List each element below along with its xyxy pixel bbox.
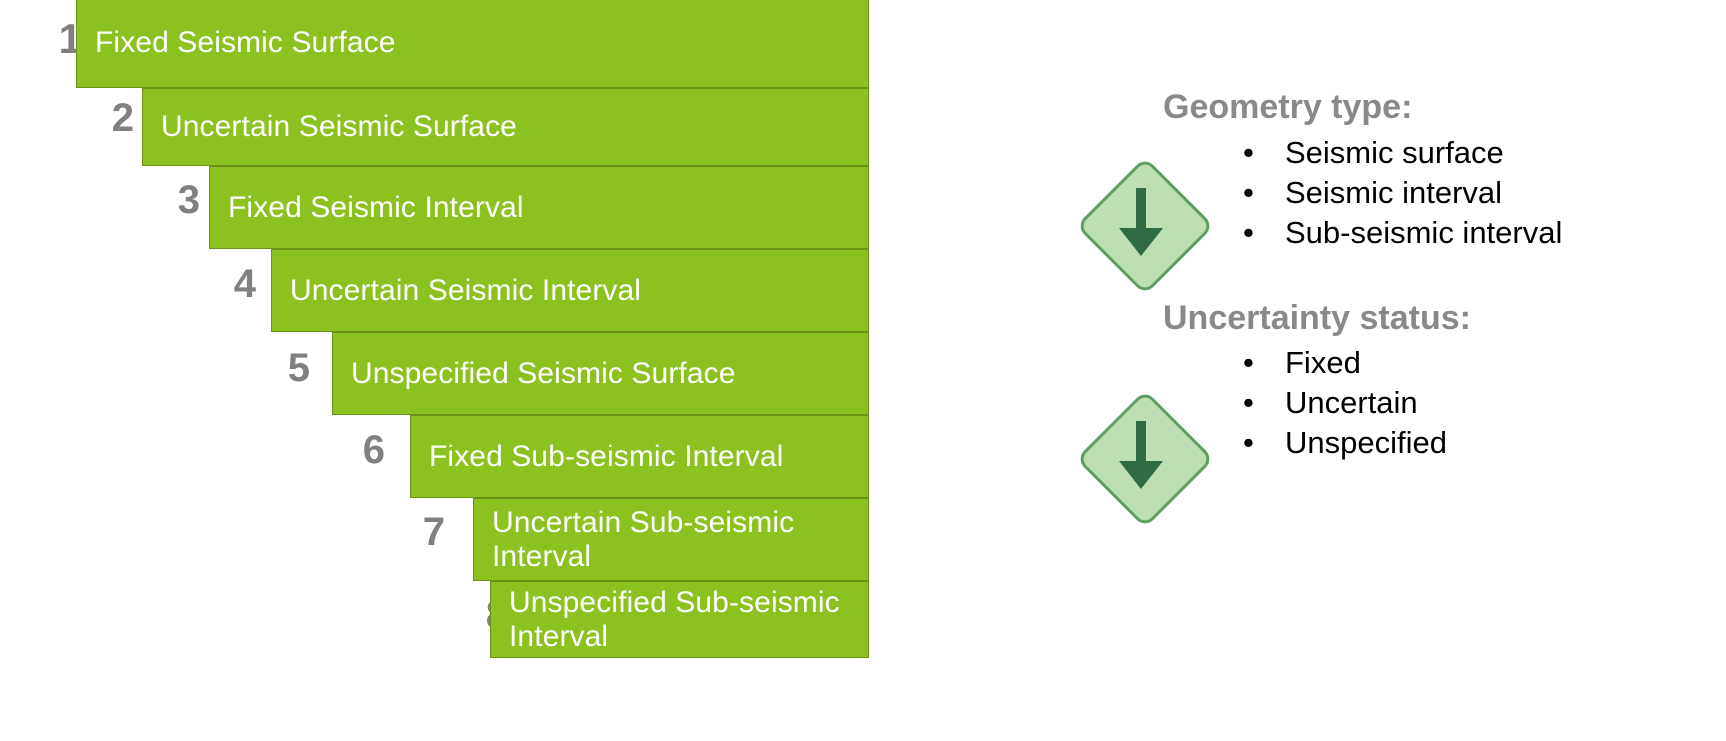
legend-item: •Fixed [1243,343,1447,383]
stair-bar-4[interactable]: Uncertain Seismic Interval [271,249,869,332]
bullet-icon: • [1243,213,1254,253]
stair-bar-8[interactable]: Unspecified Sub-seismic Interval [490,581,869,658]
stair-bar-label: Uncertain Sub-seismic Interval [474,506,868,573]
step-number-3: 3 [140,180,200,220]
stair-bar-5[interactable]: Unspecified Seismic Surface [332,332,869,415]
bullet-icon: • [1243,133,1254,173]
stair-bar-label: Fixed Sub-seismic Interval [411,440,793,474]
legend-item-label: Seismic interval [1285,175,1502,210]
down-arrow-diamond-icon [1076,390,1215,529]
stair-bar-label: Uncertain Seismic Surface [143,110,527,144]
stair-bar-3[interactable]: Fixed Seismic Interval [209,166,869,249]
bullet-icon: • [1243,383,1254,423]
legend-item: •Seismic interval [1243,173,1562,213]
legend-item-label: Sub-seismic interval [1285,215,1562,250]
bullet-icon: • [1243,173,1254,213]
down-arrow-diamond-icon [1076,157,1215,296]
stair-bar-6[interactable]: Fixed Sub-seismic Interval [410,415,869,498]
legend-item-label: Fixed [1285,345,1361,380]
stair-bar-label: Fixed Seismic Interval [210,191,534,225]
legend-heading-0: Geometry type: [1163,90,1412,124]
step-number-2: 2 [74,98,134,138]
diagram-canvas: 1Fixed Seismic Surface2Uncertain Seismic… [0,0,1726,741]
legend-list-1: •Fixed•Uncertain•Unspecified [1243,343,1447,463]
bullet-icon: • [1243,423,1254,463]
legend-item-label: Uncertain [1285,385,1418,420]
step-number-7: 7 [385,512,445,552]
legend-item: •Seismic surface [1243,133,1562,173]
bullet-icon: • [1243,343,1254,383]
legend-item-label: Seismic surface [1285,135,1504,170]
step-number-5: 5 [250,348,310,388]
stair-bar-label: Unspecified Seismic Surface [333,357,746,391]
legend-list-0: •Seismic surface•Seismic interval•Sub-se… [1243,133,1562,253]
step-number-6: 6 [325,430,385,470]
stair-bar-2[interactable]: Uncertain Seismic Surface [142,88,869,166]
stair-bar-label: Unspecified Sub-seismic Interval [491,586,850,653]
legend-item: •Uncertain [1243,383,1447,423]
legend-item: •Sub-seismic interval [1243,213,1562,253]
stair-bar-1[interactable]: Fixed Seismic Surface [76,0,869,88]
step-number-1: 1 [22,18,82,60]
step-number-4: 4 [196,264,256,304]
legend-heading-1: Uncertainty status: [1163,301,1471,335]
stair-bar-label: Fixed Seismic Surface [77,26,406,60]
legend-item: •Unspecified [1243,423,1447,463]
stair-bar-label: Uncertain Seismic Interval [272,274,651,308]
stair-bar-7[interactable]: Uncertain Sub-seismic Interval [473,498,869,581]
legend-item-label: Unspecified [1285,425,1447,460]
